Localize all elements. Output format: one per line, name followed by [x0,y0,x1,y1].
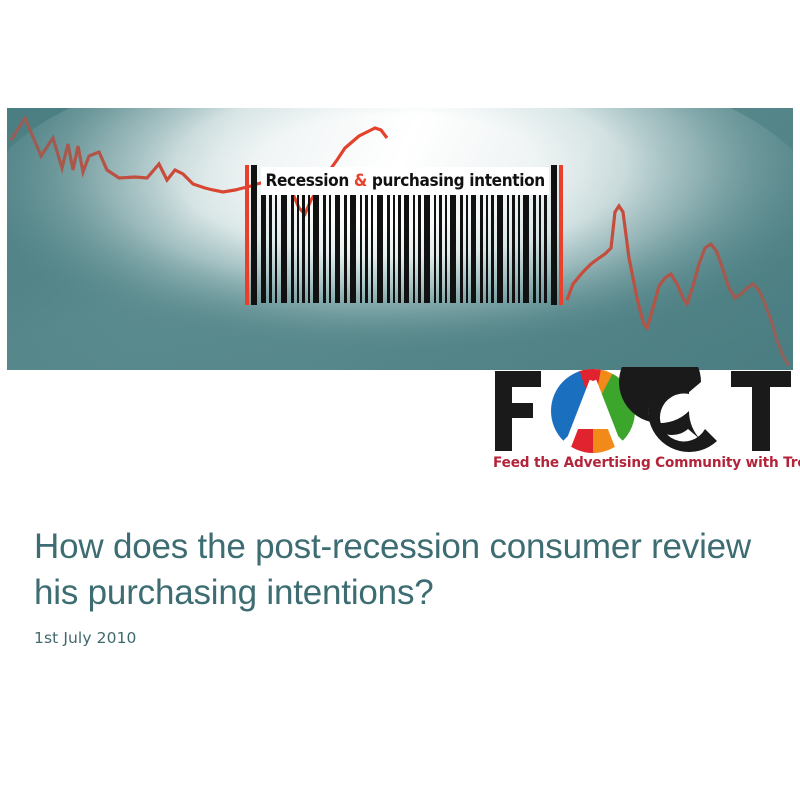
barcode-label-after: purchasing intention [367,171,545,190]
barcode-bar [512,195,515,303]
barcode-bars [261,195,549,303]
barcode-bar [365,195,368,303]
logo-letter-c [619,367,730,452]
barcode-bar [281,195,287,303]
barcode-graphic: Recession & purchasing intention [245,165,563,305]
barcode-bar [387,195,390,303]
barcode-bar [393,195,395,303]
barcode-bar [523,195,529,303]
barcode-bar [471,195,476,303]
barcode-left-red-bar [245,165,249,305]
barcode-bar [424,195,430,303]
barcode-bar [413,195,415,303]
barcode-bar [491,195,494,303]
barcode-bar [344,195,347,303]
barcode-bar [418,195,421,303]
barcode-bar [291,195,294,303]
barcode-right-red-bar [559,165,563,305]
barcode-bar [360,195,362,303]
logo-letter-t [731,371,791,451]
barcode-bar [460,195,463,303]
barcode-label-ampersand: & [354,171,367,190]
hero-banner: Recession & purchasing intention [7,108,793,370]
barcode-bar [480,195,483,303]
barcode-bar [497,195,503,303]
barcode-bar [313,195,319,303]
barcode-bar [275,195,277,303]
barcode-bar [544,195,547,303]
logo-letter-f [495,371,541,451]
barcode-right-guard-bar [551,165,557,305]
barcode-bar [297,195,299,303]
barcode-bar [269,195,272,303]
barcode-label-text: Recession & purchasing intention [265,173,544,190]
barcode-bar [404,195,409,303]
page-title: How does the post-recession consumer rev… [34,524,754,615]
barcode-bar [533,195,536,303]
barcode-bar [539,195,541,303]
barcode-bar [371,195,373,303]
barcode-bar [261,195,266,303]
barcode-bar [302,195,305,303]
barcode-bar [445,195,447,303]
fact-wordmark [489,367,795,453]
barcode-bar [335,195,340,303]
barcode-label: Recession & purchasing intention [261,167,549,195]
barcode-bar [439,195,442,303]
fact-logo: Feed the Advertising Community with Tren… [489,367,795,479]
barcode-bar [308,195,310,303]
barcode-bar [377,195,383,303]
barcode-bar [450,195,456,303]
barcode-bar [350,195,356,303]
barcode-bar [329,195,331,303]
barcode-bar [398,195,401,303]
barcode-bar [434,195,436,303]
barcode-bar [507,195,509,303]
barcode-left-guard-bar [251,165,257,305]
barcode-bar [518,195,520,303]
barcode-bar [323,195,326,303]
barcode-bar [466,195,468,303]
fact-tagline: Feed the Advertising Community with Tren… [493,455,783,471]
barcode-label-before: Recession [265,171,353,190]
slide-date: 1st July 2010 [34,629,137,647]
barcode-bar [486,195,488,303]
